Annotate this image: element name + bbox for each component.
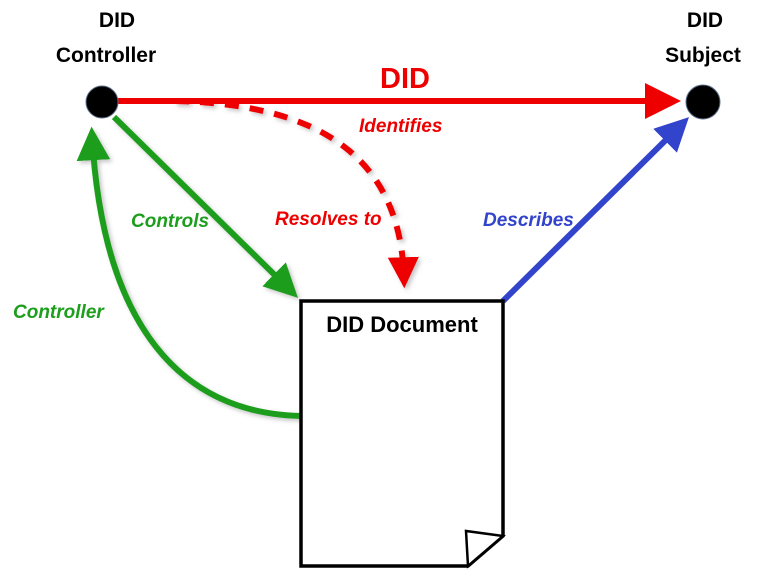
diagram-canvas: DID Document DID Controller DID Subject … — [0, 0, 763, 575]
did-subject-label-line1: DID — [687, 9, 723, 32]
did-document-body — [301, 301, 503, 566]
edge-controller — [92, 135, 301, 416]
did-document-fold — [466, 531, 503, 566]
did-controller-label-line2: Controller — [56, 44, 156, 67]
did-controller-dot[interactable] — [86, 86, 118, 118]
did-document-label: DID Document — [326, 312, 478, 337]
edge-controller-path — [92, 135, 301, 416]
edge-label-controls: Controls — [131, 211, 209, 232]
edge-label-resolves-to: Resolves to — [275, 209, 382, 230]
edge-label-did: DID — [380, 63, 430, 95]
edge-label-identifies: Identifies — [359, 116, 442, 137]
edge-controls-path — [114, 117, 292, 292]
did-controller-label-line1: DID — [99, 9, 135, 32]
node-did-document[interactable]: DID Document — [301, 301, 503, 566]
did-relationship-diagram: DID Document DID Controller DID Subject … — [0, 0, 763, 575]
edge-controls — [114, 117, 292, 292]
edge-label-controller: Controller — [13, 302, 105, 323]
node-did-subject[interactable]: DID Subject — [665, 9, 741, 119]
did-subject-label-line2: Subject — [665, 44, 741, 67]
did-subject-dot[interactable] — [686, 85, 720, 119]
edge-label-describes: Describes — [483, 210, 574, 231]
